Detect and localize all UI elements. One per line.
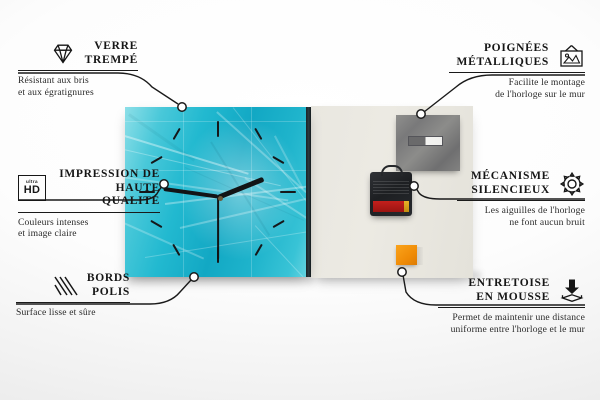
mechanism-battery [373,201,406,212]
feature-subtitle: Permet de maintenir une distance uniform… [438,312,585,335]
clock-tick [173,244,181,256]
feature-rule [18,212,160,213]
feature-title: IMPRESSION DE HAUTE QUALITÉ [55,168,160,209]
feature-title: VERRE TREMPÉ [85,40,138,67]
clock-tick [173,128,181,140]
clock-tick [255,244,263,256]
feature-subtitle: Résistant aux bris et aux égratignures [18,75,138,98]
feature-title: BORDS POLIS [87,272,130,299]
feature-mecanisme-silencieux[interactable]: MÉCANISME SILENCIEUX [457,170,585,228]
ultra-hd-icon-large-text: HD [24,185,41,196]
feature-rule [18,70,138,71]
feature-entretoise-en-mousse[interactable]: ENTRETOISE EN MOUSSE Permet de maintenir… [438,277,585,335]
clock-hand-center-cap [218,196,223,201]
clock-hour-hand [217,176,264,199]
feature-rule [457,200,585,201]
infographic-canvas: VERRE TREMPÉ Résistant aux bris et aux é… [0,0,600,400]
clock-tick [150,156,162,164]
feature-rule [16,302,130,303]
feature-subtitle: Les aiguilles de l'horloge ne font aucun… [457,205,585,228]
clock-minute-hand [163,187,218,198]
clock-tick [255,128,263,140]
wall-mount-frame-icon [558,44,585,68]
mechanism-label [373,181,409,196]
feature-title: MÉCANISME SILENCIEUX [471,170,550,197]
polished-edges-icon [52,274,78,298]
feature-verre-trempe[interactable]: VERRE TREMPÉ Résistant aux bris et aux é… [18,40,138,98]
accessory-panel [311,106,473,278]
feature-rule [449,72,585,73]
feature-subtitle: Couleurs intenses et image claire [18,217,160,240]
clock-tick [217,121,219,137]
silent-clock-mechanism [370,172,412,216]
foam-spacer [396,245,417,265]
feature-rule [438,307,585,308]
diamond-icon [50,43,76,65]
feature-bords-polis[interactable]: BORDS POLIS Surface lisse et sûre [16,272,130,319]
foam-spacer-arrow-icon [559,278,585,303]
feature-subtitle: Facilite le montage de l'horloge sur le … [449,77,585,100]
clock-second-hand [217,197,219,259]
clock-tick [280,191,296,193]
metal-hanging-plate [396,115,460,171]
feature-title: ENTRETOISE EN MOUSSE [468,277,550,304]
ultra-hd-icon: ultra HD [18,175,46,201]
feature-title: POIGNÉES MÉTALLIQUES [457,42,549,69]
gear-icon [559,171,585,197]
feature-impression-haute-qualite[interactable]: ultra HD IMPRESSION DE HAUTE QUALITÉ Cou… [18,168,160,240]
feature-subtitle: Surface lisse et sûre [16,307,130,319]
mechanism-hook [381,165,403,176]
clock-tick [272,220,284,228]
mechanism-battery-terminal [404,201,409,212]
foam-spacer-side [417,247,423,265]
metal-plate-slot [408,136,443,146]
clock-tick [272,156,284,164]
feature-poignees-metalliques[interactable]: POIGNÉES MÉTALLIQUES Facilite le montage… [449,42,585,100]
